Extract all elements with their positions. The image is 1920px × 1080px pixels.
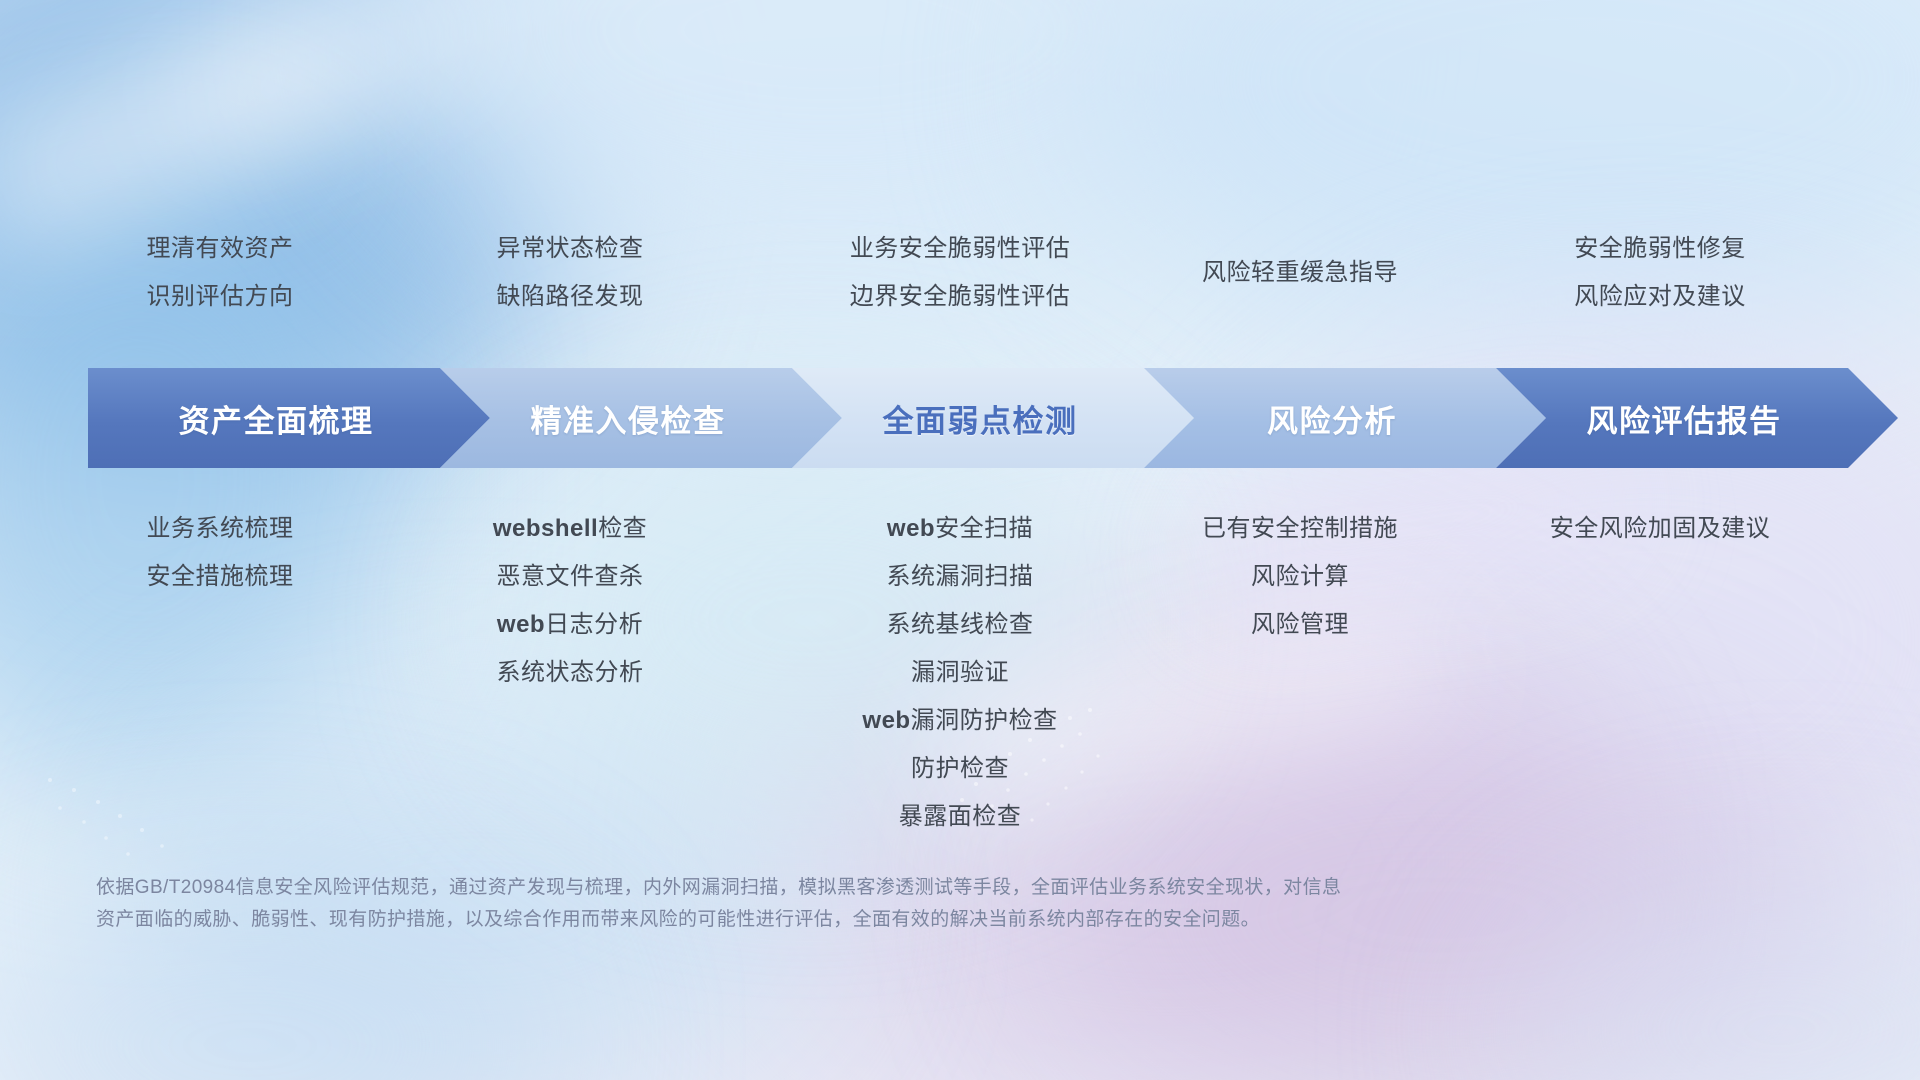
bottom-label-text: 日志分析 xyxy=(545,611,643,638)
bottom-label-prefix: web xyxy=(862,707,910,734)
process-stage-label: 风险分析 xyxy=(1144,396,1546,441)
stage-top-labels-2: 异常状态检查 缺陷路径发现 xyxy=(410,225,730,321)
stage-bottom-labels-4: 已有安全控制措施 风险计算 风险管理 xyxy=(1120,505,1480,649)
bottom-label-text: 检查 xyxy=(598,515,647,542)
bottom-label-text: 漏洞防护检查 xyxy=(911,707,1058,734)
process-stage-intrusion-check[interactable]: 精准入侵检查 xyxy=(440,368,842,468)
process-stage-weakness-detection[interactable]: 全面弱点检测 xyxy=(792,368,1194,468)
bottom-label-prefix: webshell xyxy=(493,515,598,542)
stage-top-labels-1: 理清有效资产 识别评估方向 xyxy=(60,225,380,321)
process-stage-label: 精准入侵检查 xyxy=(440,396,842,441)
bottom-label-prefix: web xyxy=(887,515,935,542)
top-label: 理清有效资产 xyxy=(60,225,380,273)
process-stage-assessment-report[interactable]: 风险评估报告 xyxy=(1496,368,1898,468)
stage-bottom-labels-5: 安全风险加固及建议 xyxy=(1470,505,1850,553)
process-stage-asset-inventory[interactable]: 资产全面梳理 xyxy=(88,368,490,468)
process-stage-risk-analysis[interactable]: 风险分析 xyxy=(1144,368,1546,468)
bottom-label: web漏洞防护检查 xyxy=(780,697,1140,745)
stage-bottom-labels-2: webshell检查 恶意文件查杀 web日志分析 系统状态分析 xyxy=(410,505,730,697)
stage-top-labels-3: 业务安全脆弱性评估 边界安全脆弱性评估 xyxy=(780,225,1140,321)
process-banner: 资产全面梳理 精准入侵检查 全面弱点检测 风险分析 风险评估报告 xyxy=(88,368,1848,468)
bottom-label: 安全风险加固及建议 xyxy=(1470,505,1850,553)
top-label: 缺陷路径发现 xyxy=(410,273,730,321)
top-label: 边界安全脆弱性评估 xyxy=(780,273,1140,321)
bottom-label: webshell检查 xyxy=(410,505,730,553)
bottom-label: 漏洞验证 xyxy=(780,649,1140,697)
bottom-label: 系统状态分析 xyxy=(410,649,730,697)
stage-top-labels-4: 风险轻重缓急指导 xyxy=(1120,249,1480,297)
bottom-label: 已有安全控制措施 xyxy=(1120,505,1480,553)
bottom-label-prefix: web xyxy=(497,611,545,638)
bottom-label: 系统漏洞扫描 xyxy=(780,553,1140,601)
bottom-label: 防护检查 xyxy=(780,745,1140,793)
diagram-content: 理清有效资产 识别评估方向 异常状态检查 缺陷路径发现 业务安全脆弱性评估 边界… xyxy=(0,0,1920,1080)
bottom-label-text: 安全扫描 xyxy=(935,515,1033,542)
footer-line-2: 资产面临的威胁、脆弱性、现有防护措施，以及综合作用而带来风险的可能性进行评估，全… xyxy=(96,904,1616,936)
top-label: 异常状态检查 xyxy=(410,225,730,273)
top-label: 安全脆弱性修复 xyxy=(1490,225,1830,273)
stage-bottom-labels-3: web安全扫描 系统漏洞扫描 系统基线检查 漏洞验证 web漏洞防护检查 防护检… xyxy=(780,505,1140,841)
footer-line-1: 依据GB/T20984信息安全风险评估规范，通过资产发现与梳理，内外网漏洞扫描，… xyxy=(96,872,1616,904)
bottom-label: 风险计算 xyxy=(1120,553,1480,601)
bottom-label: 风险管理 xyxy=(1120,601,1480,649)
slide-canvas: 理清有效资产 识别评估方向 异常状态检查 缺陷路径发现 业务安全脆弱性评估 边界… xyxy=(0,0,1920,1080)
bottom-label: web日志分析 xyxy=(410,601,730,649)
process-stage-label: 全面弱点检测 xyxy=(792,396,1194,441)
stage-bottom-labels-1: 业务系统梳理 安全措施梳理 xyxy=(60,505,380,601)
top-label: 风险轻重缓急指导 xyxy=(1120,249,1480,297)
top-label: 风险应对及建议 xyxy=(1490,273,1830,321)
footer-description: 依据GB/T20984信息安全风险评估规范，通过资产发现与梳理，内外网漏洞扫描，… xyxy=(96,872,1616,936)
top-label: 业务安全脆弱性评估 xyxy=(780,225,1140,273)
top-label: 识别评估方向 xyxy=(60,273,380,321)
bottom-label: 系统基线检查 xyxy=(780,601,1140,649)
process-stage-label: 风险评估报告 xyxy=(1496,396,1898,441)
stage-top-labels-5: 安全脆弱性修复 风险应对及建议 xyxy=(1490,225,1830,321)
bottom-label: 恶意文件查杀 xyxy=(410,553,730,601)
bottom-label: 安全措施梳理 xyxy=(60,553,380,601)
bottom-label: 暴露面检查 xyxy=(780,793,1140,841)
process-stage-label: 资产全面梳理 xyxy=(88,396,490,441)
bottom-label: 业务系统梳理 xyxy=(60,505,380,553)
bottom-label: web安全扫描 xyxy=(780,505,1140,553)
